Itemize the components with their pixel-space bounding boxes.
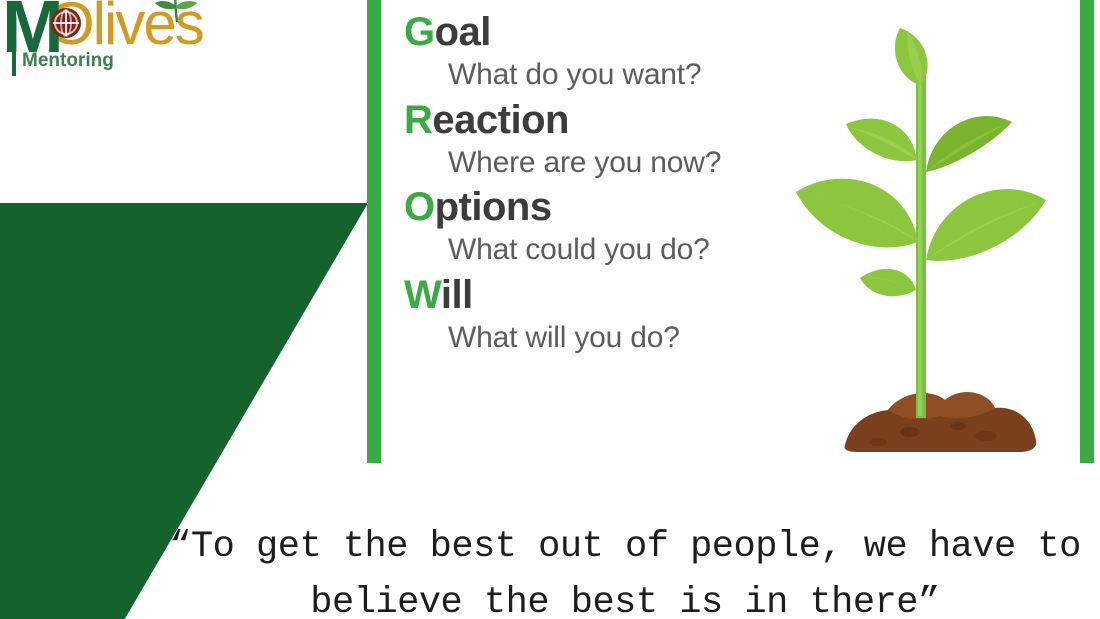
grow-heading-reaction: Reaction xyxy=(404,96,824,144)
grow-heading-rest-goal: oal xyxy=(435,10,491,54)
plant-leaf-top xyxy=(895,28,928,86)
grow-initial-w: W xyxy=(404,273,441,317)
quote-line-1: “To get the best out of people, we have … xyxy=(150,520,1100,576)
grow-model-list: Goal What do you want? Reaction Where ar… xyxy=(404,8,824,358)
grow-item-options: Options What could you do? xyxy=(404,183,824,269)
grow-initial-r: R xyxy=(404,98,432,142)
grow-question-reaction: Where are you now? xyxy=(404,144,824,182)
grow-question-options: What could you do? xyxy=(404,231,824,269)
logo-divider xyxy=(12,48,16,76)
grow-initial-o: O xyxy=(404,185,435,229)
plant-leaf-right-large xyxy=(926,189,1046,261)
poster-canvas: Olives M Mentoring Goal What do you want… xyxy=(0,0,1100,619)
grow-heading-rest-will: ill xyxy=(441,273,473,317)
grow-heading-will: Will xyxy=(404,271,824,319)
grow-heading-options: Options xyxy=(404,183,824,231)
grow-item-reaction: Reaction Where are you now? xyxy=(404,96,824,182)
quote-block: “To get the best out of people, we have … xyxy=(150,520,1100,619)
logo-tagline: Mentoring xyxy=(22,50,114,72)
plant-leaf-left-large xyxy=(796,179,918,248)
soil-mound xyxy=(845,392,1037,452)
quote-line-2: believe the best is in there” xyxy=(150,576,1100,619)
grow-heading-rest-reaction: eaction xyxy=(432,98,569,142)
grow-heading-rest-options: ptions xyxy=(435,185,552,229)
grow-question-will: What will you do? xyxy=(404,319,824,357)
left-accent-bar xyxy=(367,0,381,463)
grow-item-goal: Goal What do you want? xyxy=(404,8,824,94)
globe-icon xyxy=(51,8,81,38)
plant-stem-highlight xyxy=(918,65,922,416)
grow-question-goal: What do you want? xyxy=(404,56,824,94)
seedling-plant-icon xyxy=(790,20,1090,460)
brand-logo: Olives M Mentoring xyxy=(0,0,230,84)
plant-leaf-upper-left xyxy=(846,119,917,162)
plant-leaf-upper-right xyxy=(926,116,1012,172)
grow-initial-g: G xyxy=(404,10,435,54)
grow-item-will: Will What will you do? xyxy=(404,271,824,357)
globe-grid-inner xyxy=(60,9,72,37)
plant-leaf-lower-left xyxy=(860,269,916,296)
olive-branch-icon xyxy=(142,0,212,22)
grow-heading-goal: Goal xyxy=(404,8,824,56)
